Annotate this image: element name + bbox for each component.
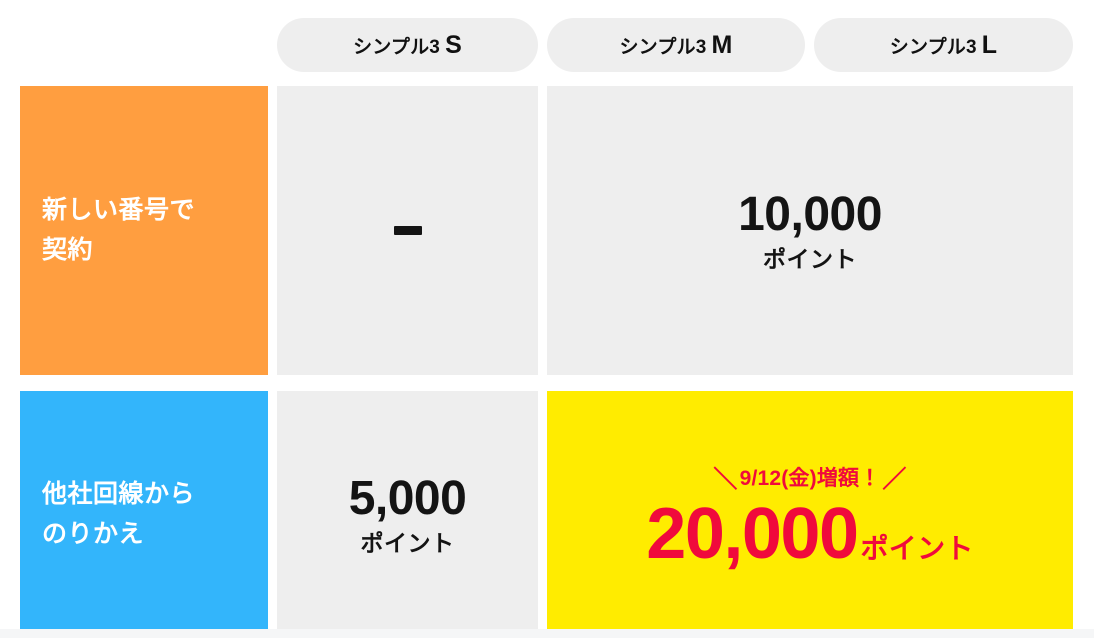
- plan-header-pill-l[interactable]: シンプル3 L: [814, 18, 1073, 72]
- cell-new-contract-plan-s: [277, 86, 538, 375]
- plan-header-pill-s[interactable]: シンプル3 S: [277, 18, 538, 72]
- cell-mnp-switch-plan-s: 5,000 ポイント: [277, 391, 538, 638]
- plan-size-l: L: [982, 31, 997, 60]
- row-label-mnp-switch-text: 他社回線から のりかえ: [42, 475, 195, 554]
- points-grid: 新しい番号で 契約 10,000 ポイント 他社回線から のりかえ 5,000 …: [0, 86, 1094, 638]
- row-label-new-contract-line1: 新しい番号で: [42, 196, 195, 224]
- plan-size-s: S: [445, 31, 462, 60]
- cell-mnp-switch-plan-ml-highlight: ＼ 9/12(金)増額！ ／ 20,000 ポイント: [547, 391, 1073, 638]
- points-amount-new-contract-ml: 10,000: [738, 191, 882, 239]
- plan-name-l: シンプル3: [890, 32, 977, 59]
- slash-right-icon: ／: [882, 459, 906, 494]
- points-unit-mnp-switch-ml: ポイント: [861, 535, 974, 563]
- row-label-new-contract-text: 新しい番号で 契約: [42, 191, 195, 270]
- points-amount-mnp-switch-ml: 20,000: [646, 498, 857, 570]
- row-label-new-contract: 新しい番号で 契約: [20, 86, 268, 375]
- points-unit-mnp-switch-s: ポイント: [361, 532, 455, 555]
- campaign-points-table: シンプル3 S シンプル3 M シンプル3 L 新しい番号で 契約: [0, 0, 1094, 638]
- row-label-mnp-switch-line2: のりかえ: [42, 520, 144, 548]
- plan-header-label-s: シンプル3 S: [353, 31, 462, 60]
- slash-left-icon: ＼: [713, 459, 737, 494]
- plan-header-label-m: シンプル3 M: [619, 31, 732, 60]
- plan-header-row: シンプル3 S シンプル3 M シンプル3 L: [0, 0, 1094, 86]
- points-amount-mnp-switch-s: 5,000: [349, 475, 467, 523]
- points-unit-new-contract-ml: ポイント: [763, 248, 857, 271]
- plan-header-pill-m[interactable]: シンプル3 M: [547, 18, 805, 72]
- page-bottom-strip: [0, 629, 1094, 638]
- increase-badge-text: 9/12(金)増額！: [740, 462, 881, 492]
- dash-icon: [394, 226, 422, 235]
- plan-name-s: シンプル3: [353, 32, 440, 59]
- highlight-content: ＼ 9/12(金)増額！ ／ 20,000 ポイント: [646, 459, 973, 570]
- plan-name-m: シンプル3: [619, 32, 706, 59]
- increase-badge: ＼ 9/12(金)増額！ ／: [713, 459, 906, 494]
- row-label-mnp-switch-line1: 他社回線から: [42, 480, 195, 508]
- cell-new-contract-plan-ml: 10,000 ポイント: [547, 86, 1073, 375]
- row-label-mnp-switch: 他社回線から のりかえ: [20, 391, 268, 638]
- row-label-new-contract-line2: 契約: [42, 236, 93, 264]
- plan-size-m: M: [711, 31, 732, 60]
- plan-header-label-l: シンプル3 L: [890, 31, 997, 60]
- highlight-amount-row: 20,000 ポイント: [646, 498, 973, 570]
